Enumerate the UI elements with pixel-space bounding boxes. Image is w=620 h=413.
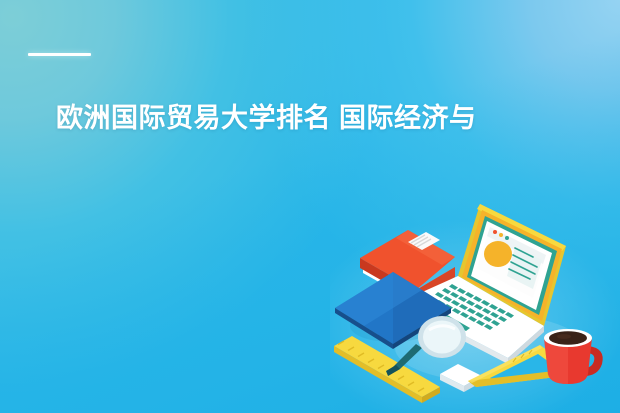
browser-dot-3 bbox=[505, 236, 509, 240]
browser-dot-1 bbox=[493, 230, 497, 234]
screen-avatar bbox=[484, 241, 512, 267]
browser-dot-2 bbox=[499, 233, 503, 237]
article-cover-banner: 欧洲国际贸易大学排名 国际经济与 bbox=[0, 0, 620, 413]
education-illustration bbox=[330, 198, 620, 413]
accent-dash bbox=[28, 53, 91, 56]
coffee-mug bbox=[544, 329, 603, 384]
page-title: 欧洲国际贸易大学排名 国际经济与 bbox=[56, 101, 620, 135]
